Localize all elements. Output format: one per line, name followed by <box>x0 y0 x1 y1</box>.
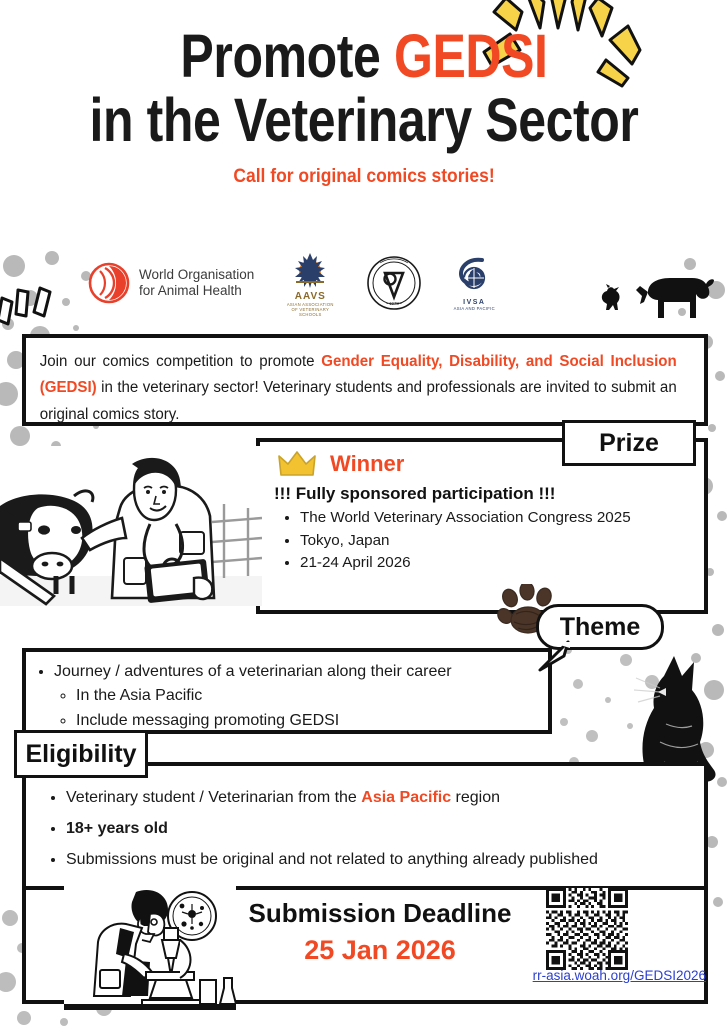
logo-row: World Organisation for Animal Health AAV… <box>88 252 558 314</box>
vet-with-cow-illustration <box>0 446 262 606</box>
eligibility-item: 18+ years old <box>66 813 704 844</box>
prize-item: 21-24 April 2026 <box>300 552 704 575</box>
crown-icon <box>278 450 316 478</box>
svg-text:• 1978 •: • 1978 • <box>387 301 403 306</box>
page-title: Promote GEDSI in the Veterinary Sector C… <box>0 28 728 188</box>
theme-sub-item: In the Asia Pacific <box>76 684 548 709</box>
aavs-logo: AAVS ASIAN ASSOCIATION OF VETERINARY SCH… <box>284 250 336 317</box>
eligibility-item-post: region <box>451 789 500 806</box>
prize-item: Tokyo, Japan <box>300 530 704 553</box>
prize-item: The World Veterinary Association Congres… <box>300 507 704 530</box>
deadline-title: Submission Deadline <box>240 898 520 929</box>
title-line-1: Promote GEDSI <box>66 28 663 86</box>
prize-tab-label: Prize <box>562 420 696 466</box>
eligibility-item-highlight: Asia Pacific <box>361 789 451 806</box>
aavs-logo-caption: AAVS <box>295 291 326 302</box>
eligibility-item: Submissions must be original and not rel… <box>66 844 704 875</box>
eligibility-item: Veterinary student / Veterinarian from t… <box>66 782 704 813</box>
theme-main-item-text: Journey / adventures of a veterinarian a… <box>54 663 452 680</box>
submission-link[interactable]: rr-asia.woah.org/GEDSI2026 <box>486 968 706 983</box>
theme-bubble-tail-icon <box>534 640 574 674</box>
ivsa-logo: IVSA ASIA AND PACIFIC <box>452 256 496 311</box>
eligibility-item-pre: 18+ years old <box>66 820 168 837</box>
cow-silhouette <box>636 278 714 318</box>
title-prefix: Promote <box>180 22 394 90</box>
theme-sublist: In the Asia Pacific Include messaging pr… <box>76 684 548 734</box>
aavs-logo-subcaption: ASIAN ASSOCIATION OF VETERINARY SCHOOLS <box>284 302 336 317</box>
title-line-2: in the Veterinary Sector <box>66 92 663 150</box>
ivsa-logo-subcaption: ASIA AND PACIFIC <box>454 306 495 311</box>
woah-mark-icon <box>88 262 130 304</box>
prize-headline: !!! Fully sponsored participation !!! <box>260 478 704 504</box>
aavs-mark-icon <box>287 250 333 290</box>
farm-animals-silhouette <box>586 256 716 328</box>
eligibility-panel: Veterinary student / Veterinarian from t… <box>22 762 708 890</box>
ivsa-mark-icon <box>452 256 496 298</box>
fava-logo: • 1978 • <box>366 255 422 311</box>
eligibility-item-pre: Veterinary student / Veterinarian from t… <box>66 789 361 806</box>
prize-list: The World Veterinary Association Congres… <box>300 507 704 575</box>
winner-label: Winner <box>330 451 404 477</box>
eligibility-item-pre: Submissions must be original and not rel… <box>66 851 598 868</box>
theme-main-item: Journey / adventures of a veterinarian a… <box>54 660 548 734</box>
woah-logo: World Organisation for Animal Health <box>88 262 254 304</box>
scientist-with-microscope-illustration <box>64 884 236 1010</box>
intro-text: Join our comics competition to promote G… <box>26 338 690 428</box>
eligibility-tab-label: Eligibility <box>14 730 148 778</box>
chicken-silhouette <box>602 284 620 310</box>
theme-list: Journey / adventures of a veterinarian a… <box>54 660 548 734</box>
fava-mark-icon: • 1978 • <box>366 255 422 311</box>
poster-root: World Organisation for Animal Health AAV… <box>0 0 728 1030</box>
woah-logo-text: World Organisation for Animal Health <box>139 267 254 299</box>
theme-panel: Journey / adventures of a veterinarian a… <box>22 648 552 734</box>
page-subtitle: Call for original comics stories! <box>29 166 699 188</box>
qr-code[interactable] <box>546 888 628 970</box>
intro-part2: in the veterinary sector! Veterinary stu… <box>40 379 677 422</box>
intro-part1: Join our comics competition to promote <box>40 353 321 370</box>
intro-panel: Join our comics competition to promote G… <box>22 334 708 426</box>
eligibility-list: Veterinary student / Veterinarian from t… <box>66 782 704 876</box>
ivsa-logo-caption: IVSA <box>463 299 485 306</box>
deadline-date: 25 Jan 2026 <box>240 935 520 966</box>
comic-speed-lines-icon <box>0 276 60 332</box>
title-accent-gedsi: GEDSI <box>394 22 548 90</box>
deadline-block: Submission Deadline 25 Jan 2026 <box>240 898 520 966</box>
